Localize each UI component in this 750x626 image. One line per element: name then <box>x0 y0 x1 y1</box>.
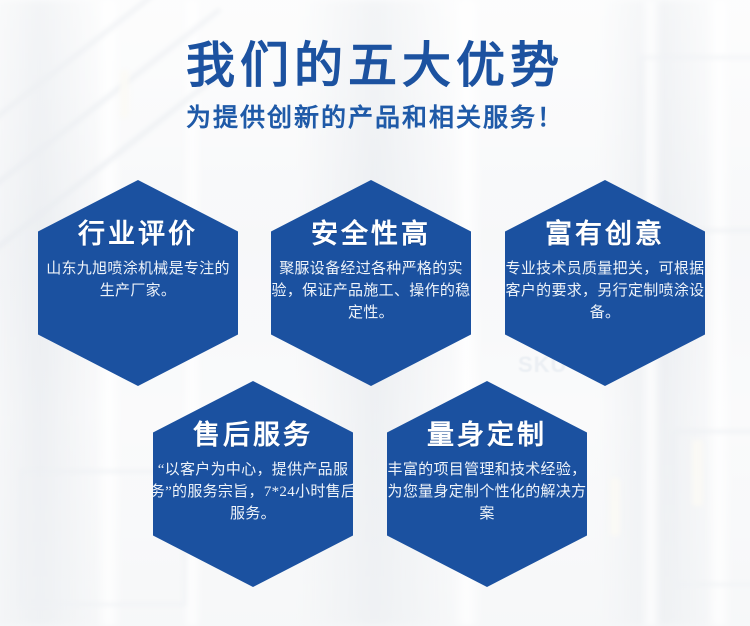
advantage-title-2: 安全性高 <box>311 218 431 250</box>
promo-banner: SKU 我们的五大优势 为提供创新的产品和相关服务！ 行业评价 山东九旭喷涂机械… <box>0 0 750 626</box>
page-title: 我们的五大优势 <box>0 38 750 94</box>
page-subtitle: 为提供创新的产品和相关服务！ <box>0 104 750 134</box>
advantage-body-3: 专业技术员质量把关，可根据客户的要求，另行定制喷涂设备。 <box>501 258 709 324</box>
advantage-body-4: “以客户为中心，提供产品服务”的服务宗旨，7*24小时售后服务。 <box>149 459 357 525</box>
heading-block: 我们的五大优势 为提供创新的产品和相关服务！ <box>0 38 750 134</box>
advantage-title-3: 富有创意 <box>545 218 665 250</box>
advantage-title-1: 行业评价 <box>78 218 198 250</box>
advantage-body-1: 山东九旭喷涂机械是专注的生产厂家。 <box>40 258 236 302</box>
advantage-title-5: 量身定制 <box>427 419 547 451</box>
advantage-body-2: 聚脲设备经过各种严格的实验，保证产品施工、操作的稳定性。 <box>267 258 475 324</box>
advantage-body-5: 丰富的项目管理和技术经验，为您量身定制个性化的解决方案 <box>383 459 591 525</box>
advantage-title-4: 售后服务 <box>193 419 313 451</box>
